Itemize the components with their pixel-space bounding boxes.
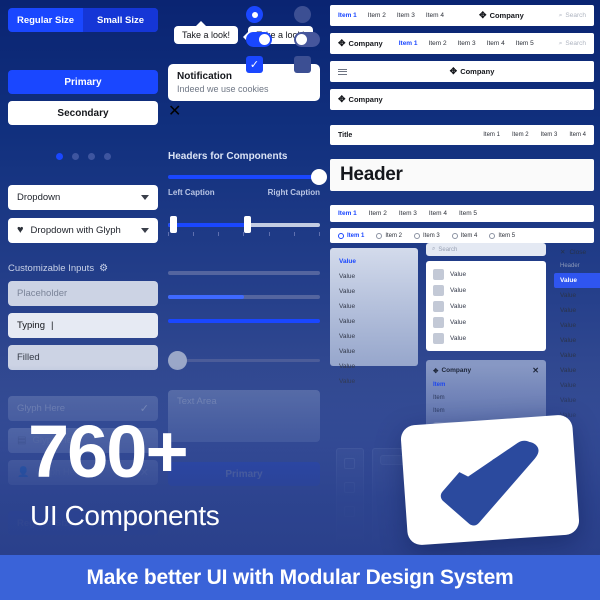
search-icon: ⌕ <box>432 246 435 253</box>
text-cursor: | <box>51 320 53 331</box>
side-menu-panel: ✕ Close Header Value Value Value Value V… <box>554 245 600 423</box>
titlebar-item-1[interactable]: Item 1 <box>483 132 500 138</box>
menu-header-label: Header <box>554 259 600 273</box>
list-item[interactable]: Value <box>426 282 546 298</box>
title-bar[interactable]: Title Item 1 Item 2 Item 3 Item 4 <box>330 125 594 145</box>
knob-slider[interactable] <box>168 359 320 362</box>
range-handle-high[interactable] <box>244 216 251 233</box>
list-item-label: Value <box>450 271 466 278</box>
navbar2-item-5[interactable]: Item 5 <box>516 40 534 47</box>
slider-right-caption: Right Caption <box>268 188 320 197</box>
search-list-panel: ⌕ Search Value Value Value Value Value ✥… <box>426 243 546 441</box>
navbar2-search[interactable]: ⌕ Search <box>559 40 586 48</box>
company-card-title: Company <box>441 367 471 374</box>
chevron-down-icon <box>141 228 149 233</box>
radio-unselected-icon <box>338 233 344 239</box>
plus-logo-icon: ✥ <box>433 367 438 375</box>
plus-logo-icon: ✥ <box>338 95 346 104</box>
menu-item[interactable]: Value <box>554 333 600 348</box>
list-item[interactable]: Value <box>426 298 546 314</box>
search-input[interactable]: ⌕ Search <box>426 243 546 256</box>
radio-option-1[interactable]: Item 1 <box>338 233 364 239</box>
list-item[interactable]: Value <box>330 359 418 374</box>
search-icon: ⌕ <box>559 40 563 48</box>
plus-logo-icon: ✥ <box>338 39 346 48</box>
heart-icon: ♥ <box>17 225 24 236</box>
thumbnail-icon <box>433 269 444 280</box>
navbar1-item-2[interactable]: Item 2 <box>368 12 386 19</box>
text-area[interactable]: Text Area <box>168 390 320 442</box>
thumbnail-icon <box>433 317 444 328</box>
thumbnail-list: Value Value Value Value Value <box>426 261 546 351</box>
navbar1-search[interactable]: ⌕ Search <box>559 12 586 20</box>
middle-column: Take a look! Take a look! Notification I… <box>168 8 320 486</box>
range-slider[interactable] <box>168 223 320 227</box>
brand-logo-card <box>400 414 580 546</box>
thumbnail-icon <box>433 301 444 312</box>
pagination-dot-3[interactable] <box>88 153 95 160</box>
navbar1-search-placeholder: Search <box>565 12 586 19</box>
list-item[interactable]: Value <box>330 344 418 359</box>
hamburger-icon[interactable] <box>338 69 347 75</box>
slider-knob[interactable] <box>311 169 327 185</box>
slider-left-caption: Left Caption <box>168 188 215 197</box>
gear-icon[interactable]: ⚙ <box>99 263 108 274</box>
navbar1-brand[interactable]: ✥ Company <box>479 11 524 20</box>
radio-unselected-icon <box>376 233 382 239</box>
navbar4-brand-label: Company <box>349 95 383 104</box>
dropdown-plain-label: Dropdown <box>17 192 134 203</box>
page-header: Header <box>330 159 594 191</box>
tab-item-4[interactable]: Item 4 <box>429 210 447 217</box>
radio-unselected-icon <box>489 233 495 239</box>
plus-logo-icon: ✥ <box>479 11 487 20</box>
notification-message: Indeed we use cookies <box>177 84 311 94</box>
input-filled-value: Filled <box>17 352 40 363</box>
menu-item[interactable]: Value <box>554 348 600 363</box>
pagination-dot-2[interactable] <box>72 153 79 160</box>
progress-empty[interactable] <box>168 271 320 275</box>
thumbnail-icon <box>433 333 444 344</box>
radio-unselected-icon <box>452 233 458 239</box>
tab-item-2[interactable]: Item 2 <box>369 210 387 217</box>
radio-option-3-label: Item 3 <box>423 233 440 239</box>
chevron-down-icon <box>141 195 149 200</box>
progress-full[interactable] <box>168 319 320 323</box>
navbar-brand-left[interactable]: ✥ Company Item 1 Item 2 Item 3 Item 4 It… <box>330 33 594 54</box>
company-card-item[interactable]: Item <box>433 395 539 401</box>
slider-captions: Left Caption Right Caption <box>168 188 320 197</box>
close-icon: ✕ <box>560 248 565 256</box>
menu-item[interactable]: Value <box>554 318 600 333</box>
pagination-dots[interactable] <box>8 153 158 160</box>
toggle-on-icon[interactable] <box>246 32 272 47</box>
navbar1-item-3[interactable]: Item 3 <box>397 12 415 19</box>
checkbox-unchecked-icon[interactable]: ✓ <box>294 56 311 73</box>
radio-option-4-label: Item 4 <box>461 233 478 239</box>
knife-logo-icon <box>427 434 553 530</box>
tick <box>168 232 169 236</box>
value-list-panel[interactable]: Value Value Value Value Value Value Valu… <box>330 248 418 366</box>
customizable-inputs-label: Customizable Inputs <box>8 263 94 274</box>
customizable-inputs-header: Customizable Inputs ⚙ <box>8 263 158 274</box>
company-card-item[interactable]: Item <box>433 408 539 414</box>
menu-item[interactable]: Value <box>554 303 600 318</box>
navbar-centered[interactable]: ✥ Company <box>330 61 594 82</box>
radio-option-2-label: Item 2 <box>385 233 402 239</box>
knob-slider-handle[interactable] <box>168 351 187 370</box>
list-item[interactable]: Value <box>330 269 418 284</box>
radio-option-5[interactable]: Item 5 <box>489 233 515 239</box>
list-item[interactable]: Value <box>330 254 418 269</box>
input-typing[interactable]: Typing| <box>8 313 158 338</box>
tick <box>269 232 270 236</box>
radio-unselected-icon[interactable] <box>294 6 311 23</box>
navbar-items-left[interactable]: Item 1 Item 2 Item 3 Item 4 ✥ Company ⌕ … <box>330 5 594 26</box>
tabs-bar[interactable]: Item 1 Item 2 Item 3 Item 4 Item 5 <box>330 205 594 222</box>
navbar2-item-3[interactable]: Item 3 <box>458 40 476 47</box>
checkbox-checked-icon[interactable]: ✓ <box>246 56 263 73</box>
progress-half-fill <box>168 295 244 299</box>
primary-button[interactable]: Primary <box>8 70 158 94</box>
dropdown-with-glyph[interactable]: ♥ Dropdown with Glyph <box>8 218 158 243</box>
menu-item[interactable]: Value <box>554 288 600 303</box>
radio-unselected-icon <box>414 233 420 239</box>
list-item[interactable]: Value <box>330 329 418 344</box>
pagination-dot-4[interactable] <box>104 153 111 160</box>
ghost-square-icon <box>344 482 355 493</box>
tick <box>193 232 194 236</box>
list-item[interactable]: Value <box>426 266 546 282</box>
list-item[interactable]: Value <box>330 314 418 329</box>
primary-button-bottom[interactable]: Primary <box>168 462 320 486</box>
titlebar-item-2[interactable]: Item 2 <box>512 132 529 138</box>
tooltip-up: Take a look! <box>174 26 238 44</box>
range-handle-low[interactable] <box>170 216 177 233</box>
text-area-placeholder: Text Area <box>177 396 217 407</box>
menu-item[interactable]: Value <box>554 273 600 288</box>
list-item-label: Value <box>450 319 466 326</box>
radio-bar[interactable]: Item 1 Item 2 Item 3 Item 4 Item 5 <box>330 228 594 243</box>
toggle-off-icon[interactable] <box>294 32 320 47</box>
list-item-label: Value <box>450 303 466 310</box>
right-column: Item 1 Item 2 Item 3 Item 4 ✥ Company ⌕ … <box>330 5 594 243</box>
ghost-square-icon <box>344 506 355 517</box>
thumbnail-icon <box>433 285 444 296</box>
tab-item-5[interactable]: Item 5 <box>459 210 477 217</box>
tab-item-1[interactable]: Item 1 <box>338 210 357 217</box>
close-icon[interactable]: ✕ <box>168 103 181 120</box>
list-item[interactable]: Value <box>426 314 546 330</box>
secondary-button[interactable]: Secondary <box>8 101 158 125</box>
slider-track[interactable] <box>168 175 320 179</box>
search-placeholder: Search <box>438 247 457 253</box>
navbar4-brand[interactable]: ✥ Company <box>338 95 383 104</box>
company-card-header: ✥ Company ✕ <box>433 366 539 375</box>
list-item[interactable]: Value <box>330 284 418 299</box>
section-header: Headers for Components <box>168 151 320 162</box>
close-icon[interactable]: ✕ <box>532 366 539 375</box>
tab-item-3[interactable]: Item 3 <box>399 210 417 217</box>
list-item[interactable]: Value <box>330 374 418 389</box>
radio-option-4[interactable]: Item 4 <box>452 233 478 239</box>
navbar1-item-1[interactable]: Item 1 <box>338 12 357 19</box>
ghost-square-icon <box>344 458 355 469</box>
input-typing-value: Typing <box>17 320 45 331</box>
titlebar-item-3[interactable]: Item 3 <box>541 132 558 138</box>
banner-text: Make better UI with Modular Design Syste… <box>86 566 513 590</box>
tooltip-up-text: Take a look! <box>182 30 230 40</box>
navbar-brand-only[interactable]: ✥ Company <box>330 89 594 110</box>
radio-option-1-label: Item 1 <box>347 233 364 239</box>
navbar2-search-placeholder: Search <box>565 40 586 47</box>
progress-half[interactable] <box>168 295 320 299</box>
navbar1-item-4[interactable]: Item 4 <box>426 12 444 19</box>
segment-small-size[interactable]: Small Size <box>83 8 158 32</box>
component-count: 760+ <box>28 415 187 489</box>
page-header-text: Header <box>340 164 403 186</box>
radio-option-3[interactable]: Item 3 <box>414 233 440 239</box>
tick <box>218 232 219 236</box>
dropdown-plain[interactable]: Dropdown <box>8 185 158 210</box>
input-filled[interactable]: Filled <box>8 345 158 370</box>
plus-logo-icon: ✥ <box>450 67 458 76</box>
menu-item[interactable]: Value <box>554 378 600 393</box>
list-item[interactable]: Value <box>330 299 418 314</box>
control-grid: ✓ ✓ <box>246 6 324 73</box>
tick <box>294 232 295 236</box>
close-label: Close <box>569 249 586 256</box>
ui-kit-board: Regular Size Small Size Primary Secondar… <box>0 0 600 600</box>
pagination-dot-1[interactable] <box>56 153 63 160</box>
list-item-label: Value <box>450 287 466 294</box>
company-card-item[interactable]: Item <box>433 382 539 388</box>
navbar2-brand[interactable]: ✥ Company <box>338 39 383 48</box>
range-fill <box>168 223 247 227</box>
segmented-control[interactable]: Regular Size Small Size <box>8 8 158 32</box>
navbar2-item-4[interactable]: Item 4 <box>487 40 505 47</box>
tick <box>319 232 320 236</box>
input-placeholder-value: Placeholder <box>17 288 67 299</box>
navbar2-item-2[interactable]: Item 2 <box>429 40 447 47</box>
search-icon: ⌕ <box>559 12 563 20</box>
navbar2-item-1[interactable]: Item 1 <box>399 40 418 47</box>
radio-selected-icon[interactable] <box>246 6 263 23</box>
list-item-label: Value <box>450 335 466 342</box>
segment-regular-size[interactable]: Regular Size <box>8 8 83 32</box>
dropdown-glyph-label: Dropdown with Glyph <box>31 225 134 236</box>
titlebar-item-4[interactable]: Item 4 <box>569 132 586 138</box>
navbar3-brand-label: Company <box>460 67 494 76</box>
bottom-banner: Make better UI with Modular Design Syste… <box>0 555 600 600</box>
navbar1-brand-label: Company <box>490 11 524 20</box>
title-bar-items: Item 1 Item 2 Item 3 Item 4 <box>483 132 586 138</box>
list-item[interactable]: Value <box>426 330 546 346</box>
navbar3-brand[interactable]: ✥ Company <box>450 67 495 76</box>
component-count-subtitle: UI Components <box>30 500 219 532</box>
title-bar-title: Title <box>338 132 352 139</box>
close-button[interactable]: ✕ Close <box>554 245 600 259</box>
radio-option-2[interactable]: Item 2 <box>376 233 402 239</box>
input-placeholder[interactable]: Placeholder <box>8 281 158 306</box>
menu-item[interactable]: Value <box>554 393 600 408</box>
navbar2-brand-label: Company <box>349 39 383 48</box>
radio-option-5-label: Item 5 <box>498 233 515 239</box>
folder-icon: ▤ <box>17 435 26 446</box>
menu-item[interactable]: Value <box>554 363 600 378</box>
